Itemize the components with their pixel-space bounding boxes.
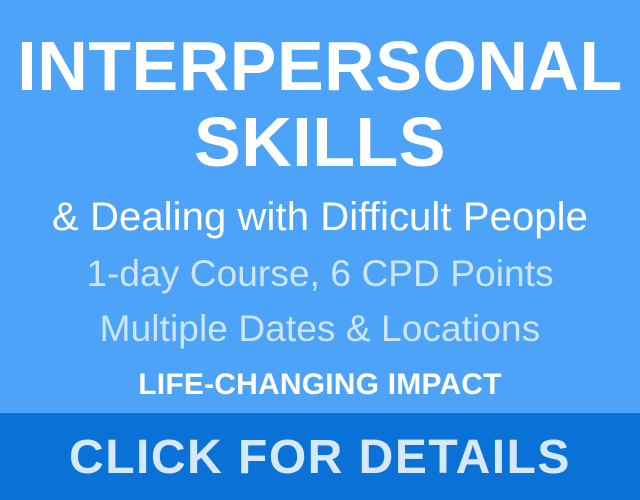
detail-course-duration: 1-day Course, 6 CPD Points <box>0 253 640 294</box>
banner-message-area: INTERPERSONAL SKILLS & Dealing with Diff… <box>0 0 640 413</box>
headline-line-2: SKILLS <box>0 103 640 181</box>
cta-button-label: CLICK FOR DETAILS <box>69 432 571 484</box>
cta-button[interactable]: CLICK FOR DETAILS <box>0 413 640 500</box>
subheadline: & Dealing with Difficult People <box>0 195 640 239</box>
advertisement-banner[interactable]: INTERPERSONAL SKILLS & Dealing with Diff… <box>0 0 640 500</box>
detail-dates-locations: Multiple Dates & Locations <box>0 308 640 349</box>
impact-statement: LIFE-CHANGING IMPACT <box>0 368 640 402</box>
headline-line-1: INTERPERSONAL <box>0 27 640 105</box>
